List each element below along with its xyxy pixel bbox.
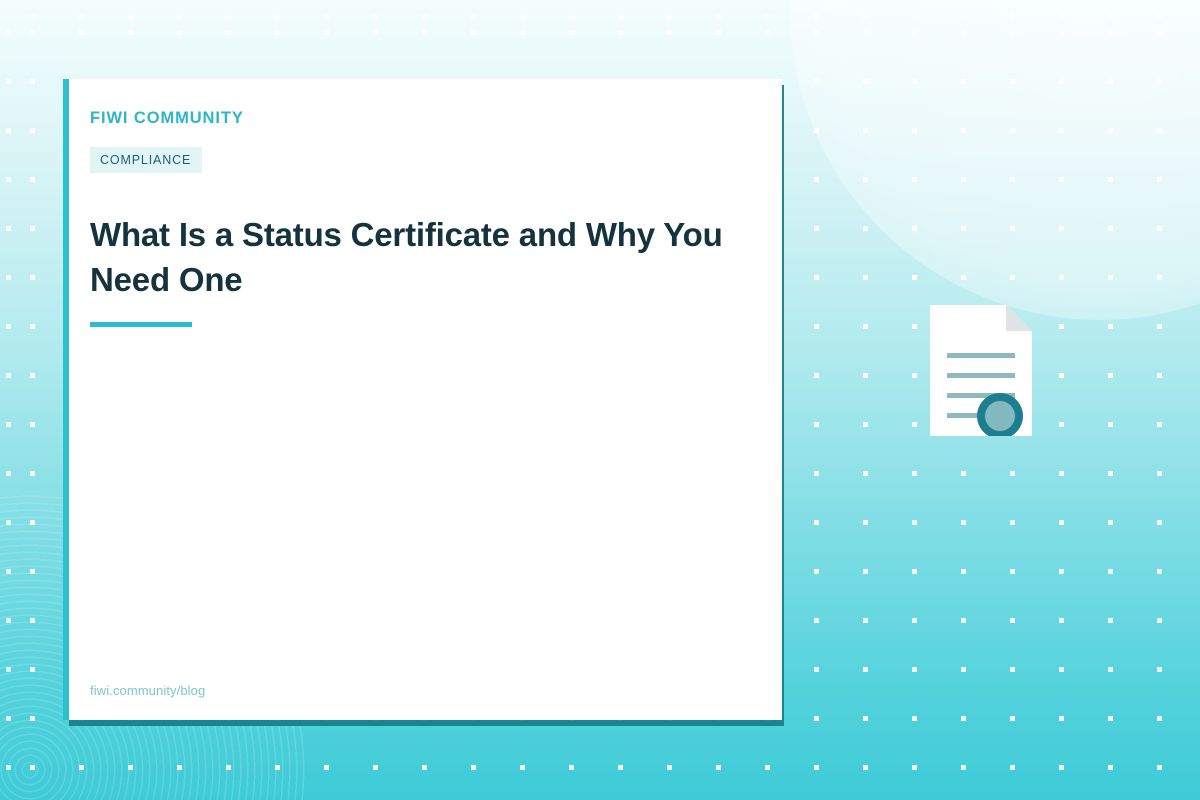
page-title: What Is a Status Certificate and Why You… <box>90 213 730 303</box>
brand-label: FIWI COMMUNITY <box>90 110 730 127</box>
decorative-arc-top-right <box>790 0 1200 320</box>
category-badge: COMPLIANCE <box>90 147 202 174</box>
card-content: FIWI COMMUNITY COMPLIANCE What Is a Stat… <box>90 110 730 710</box>
card-left-accent-bar <box>63 79 69 720</box>
footer-url: fiwi.community/blog <box>90 683 205 698</box>
title-underline-rule <box>90 322 192 327</box>
poster-canvas: FIWI COMMUNITY COMPLIANCE What Is a Stat… <box>0 0 1200 800</box>
certificate-document-icon <box>930 305 1032 436</box>
